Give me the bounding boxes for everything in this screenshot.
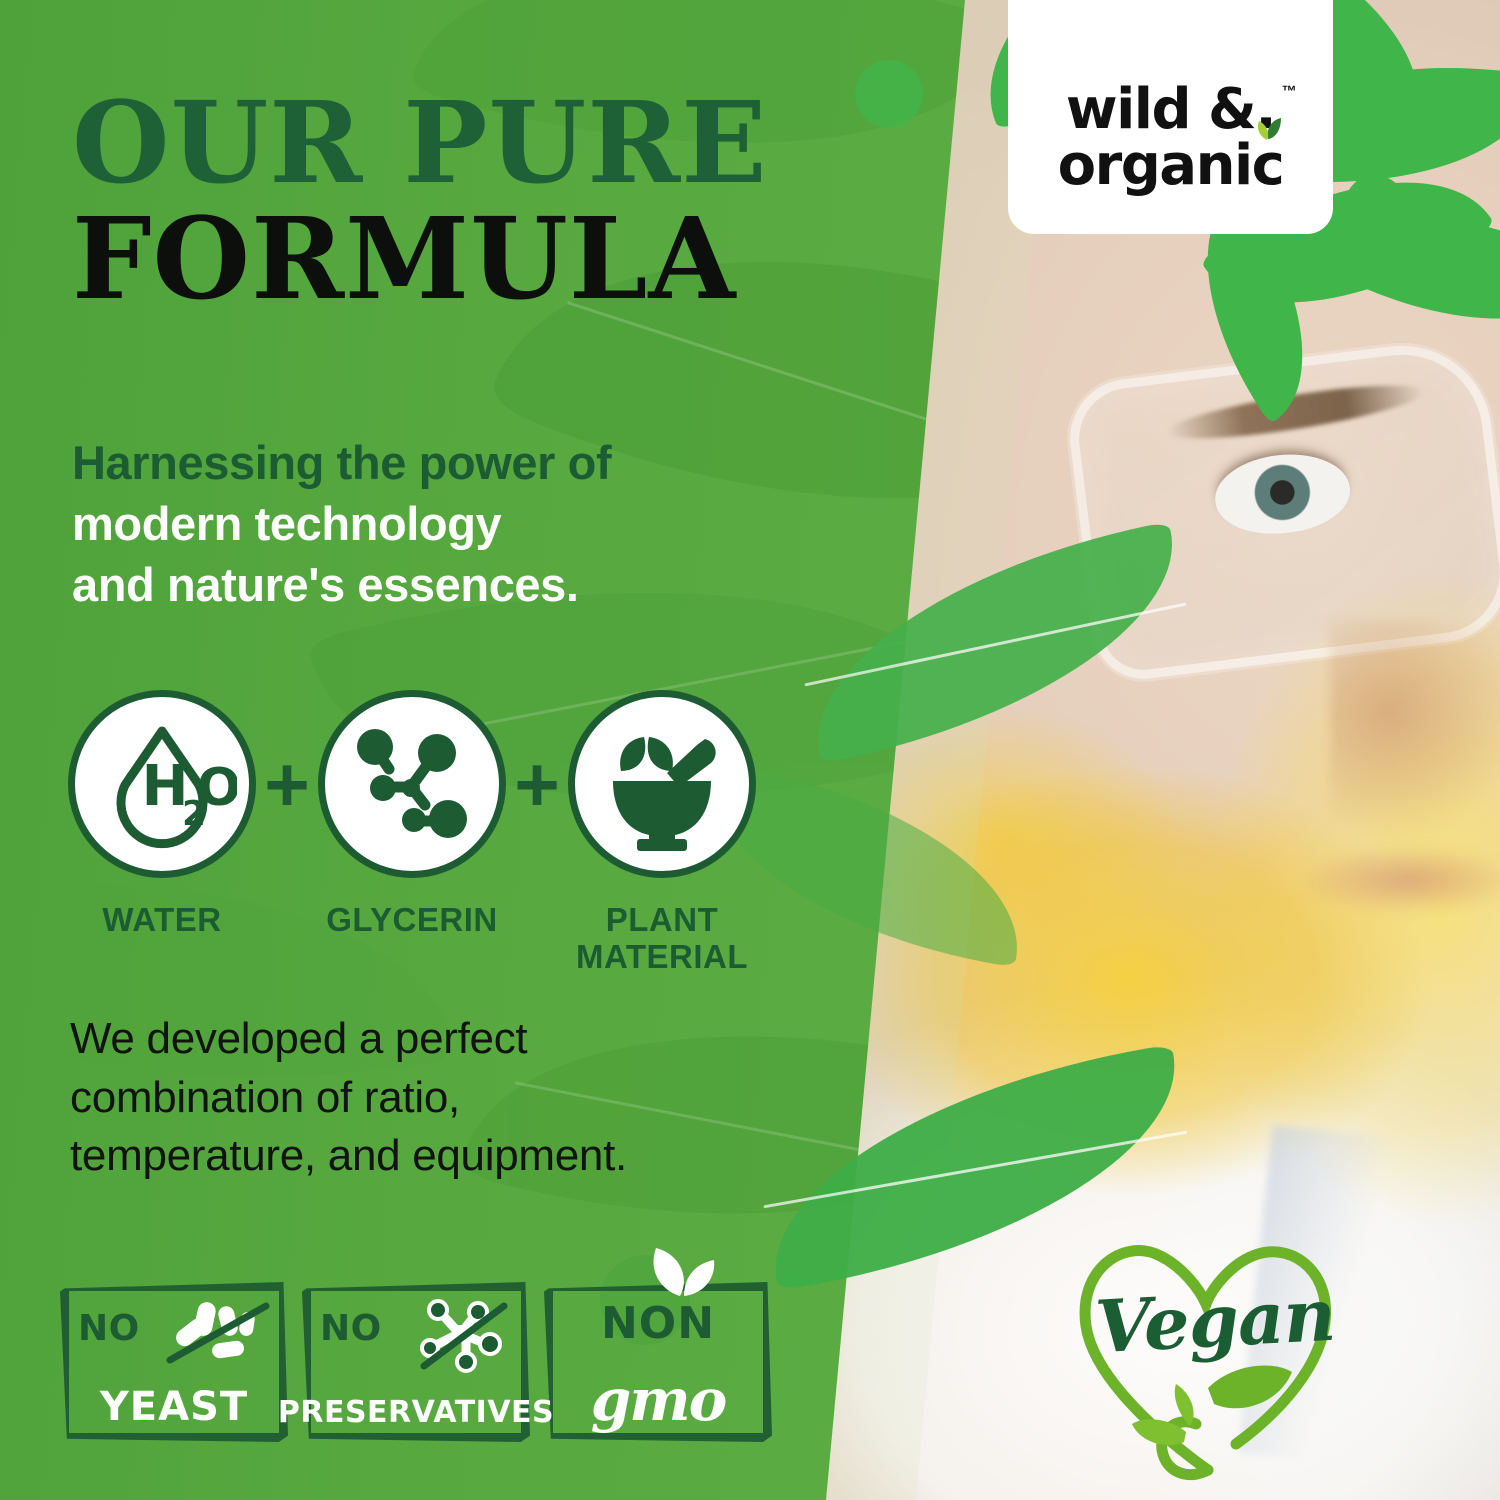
badge-prefix: NON bbox=[601, 1298, 715, 1349]
subtitle-line-1: Harnessing the power of bbox=[72, 432, 832, 493]
vegan-label: Vegan bbox=[1088, 1272, 1342, 1370]
water-icon-circle: H 2 O bbox=[68, 690, 256, 878]
ingredients-row: H 2 O WATER + bbox=[68, 690, 858, 976]
badge-prefix: NO bbox=[78, 1308, 140, 1349]
vegan-badge[interactable]: Vegan bbox=[1040, 1218, 1370, 1498]
svg-text:O: O bbox=[197, 758, 237, 818]
plus-sign-1: + bbox=[256, 690, 318, 878]
glycerin-icon-circle bbox=[318, 690, 506, 878]
trademark-symbol: ™ bbox=[1282, 85, 1296, 100]
mortar-pestle-icon bbox=[587, 709, 737, 859]
certification-badges: NO YEAST NO bbox=[60, 1282, 772, 1442]
badge-non-gmo[interactable]: NON gmo bbox=[544, 1282, 772, 1442]
logo-line-1: wild &. ™ bbox=[1066, 83, 1275, 138]
logo-line-2-text: organic bbox=[1058, 133, 1284, 198]
decor-dot-icon bbox=[1345, 175, 1405, 235]
leaves-icon bbox=[636, 1240, 728, 1302]
logo-line-2: organic bbox=[1058, 138, 1284, 194]
headline-line-1: OUR PURE bbox=[72, 86, 892, 201]
ingredient-label-water: WATER bbox=[102, 902, 221, 939]
badge-no-preservatives[interactable]: NO PRESERVATIV bbox=[302, 1282, 530, 1442]
ingredient-plant-material[interactable]: PLANT MATERIAL bbox=[568, 690, 756, 976]
plant-material-icon-circle bbox=[568, 690, 756, 878]
badge-label: gmo bbox=[591, 1366, 726, 1434]
ingredient-label-glycerin: GLYCERIN bbox=[326, 902, 497, 939]
nose bbox=[1330, 620, 1500, 850]
plant-label-line1: PLANT bbox=[606, 901, 719, 938]
plant-label-line2: MATERIAL bbox=[576, 938, 748, 975]
paragraph-line-2: combination of ratio, bbox=[70, 1069, 810, 1128]
badge-label: PRESERVATIVES bbox=[278, 1395, 554, 1430]
infographic-canvas: wild &. ™ organic OUR PURE FORMULA Harne… bbox=[0, 0, 1500, 1500]
paragraph-line-1: We developed a perfect bbox=[70, 1010, 810, 1069]
headline-line-2: FORMULA bbox=[72, 201, 892, 320]
body-paragraph: We developed a perfect combination of ra… bbox=[70, 1010, 810, 1186]
molecule-icon bbox=[337, 709, 487, 859]
subtitle-block: Harnessing the power of modern technolog… bbox=[72, 432, 832, 615]
page-title: OUR PURE FORMULA bbox=[72, 86, 892, 320]
no-preservatives-icon bbox=[404, 1296, 516, 1374]
brand-logo-card[interactable]: wild &. ™ organic bbox=[1008, 0, 1333, 234]
ingredient-water[interactable]: H 2 O WATER bbox=[68, 690, 256, 939]
subtitle-line-3: and nature's essences. bbox=[72, 554, 832, 615]
subtitle-line-2: modern technology bbox=[72, 493, 832, 554]
badge-label: YEAST bbox=[100, 1384, 248, 1430]
plus-sign-2: + bbox=[506, 690, 568, 878]
ingredient-glycerin[interactable]: GLYCERIN bbox=[318, 690, 506, 939]
badge-no-yeast[interactable]: NO YEAST bbox=[60, 1282, 288, 1442]
badge-prefix: NO bbox=[320, 1308, 382, 1349]
lip bbox=[1300, 845, 1500, 915]
logo-leaf-icon bbox=[1247, 112, 1293, 142]
no-yeast-icon bbox=[162, 1296, 274, 1374]
paragraph-line-3: temperature, and equipment. bbox=[70, 1127, 810, 1186]
ingredient-label-plant-material: PLANT MATERIAL bbox=[576, 902, 748, 976]
water-drop-h2o-icon: H 2 O bbox=[87, 709, 237, 859]
